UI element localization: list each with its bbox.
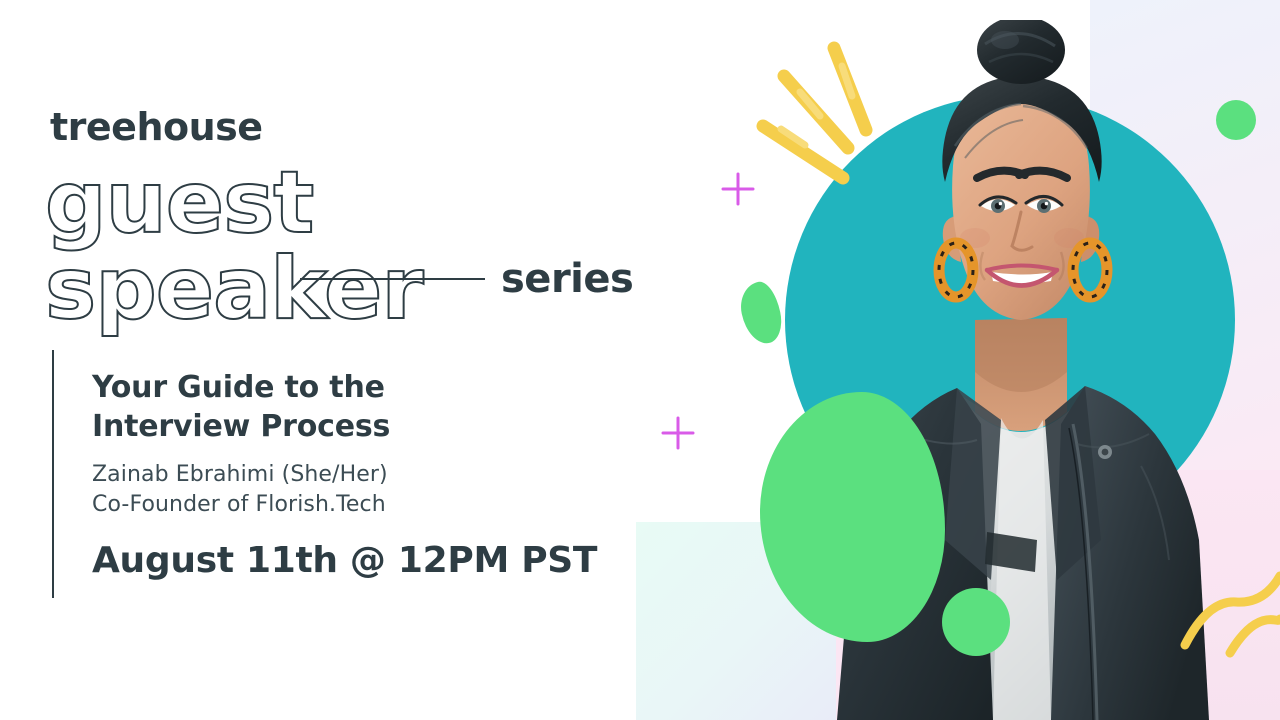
green-circle-bottom bbox=[942, 588, 1010, 656]
brand-wordmark: treehouse bbox=[50, 108, 263, 146]
green-bean-shape bbox=[736, 279, 786, 348]
speaker-role: Co-Founder of Florish.Tech bbox=[92, 490, 652, 520]
series-label: series bbox=[501, 259, 633, 299]
event-info-block: Your Guide to the Interview Process Zain… bbox=[92, 368, 652, 581]
series-divider-rule bbox=[300, 278, 485, 280]
plus-mark-1 bbox=[723, 174, 753, 204]
vertical-accent-bar bbox=[52, 350, 54, 598]
talk-title: Your Guide to the Interview Process bbox=[92, 368, 652, 446]
sparkle-dash-1-hl bbox=[781, 129, 805, 145]
left-content-column: treehouse guest speaker series Your Guid… bbox=[0, 0, 700, 720]
slide-canvas: treehouse guest speaker series Your Guid… bbox=[0, 0, 1280, 720]
event-datetime: August 11th @ 12PM PST bbox=[92, 541, 652, 581]
headline-guest-speaker: guest speaker bbox=[45, 160, 700, 332]
speaker-name: Zainab Ebrahimi (She/Her) bbox=[92, 460, 652, 490]
series-row: series bbox=[300, 254, 630, 304]
